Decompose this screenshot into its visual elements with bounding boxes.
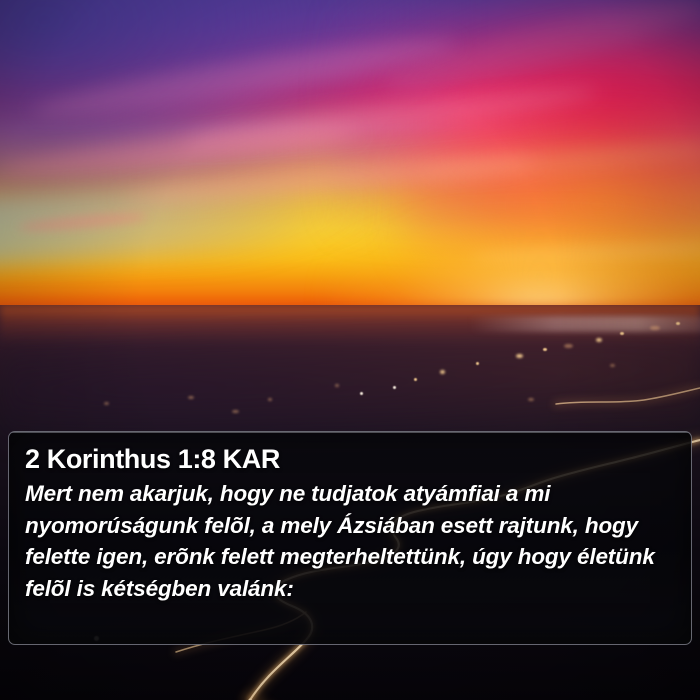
ground-light bbox=[414, 378, 417, 381]
ground-light bbox=[543, 348, 547, 351]
ground-light bbox=[676, 322, 680, 325]
ground-light bbox=[516, 354, 523, 358]
ground-light bbox=[650, 326, 660, 330]
verse-body-text: Mert nem akarjuk, hogy ne tudjatok atyám… bbox=[25, 478, 675, 604]
ground-light bbox=[476, 362, 479, 365]
ground-light bbox=[528, 398, 534, 401]
ground-light bbox=[610, 364, 615, 367]
ground-light bbox=[360, 392, 363, 395]
ground-light bbox=[440, 370, 445, 374]
ground-light bbox=[564, 344, 573, 348]
verse-reference: 2 Korinthus 1:8 KAR bbox=[25, 442, 675, 476]
ground-light bbox=[596, 338, 602, 342]
ground-light bbox=[232, 410, 239, 413]
ground-light bbox=[335, 384, 339, 387]
ground-light bbox=[620, 332, 624, 335]
ground-light bbox=[268, 398, 272, 401]
verse-image-card: 2 Korinthus 1:8 KAR Mert nem akarjuk, ho… bbox=[0, 0, 700, 700]
verse-overlay-panel: 2 Korinthus 1:8 KAR Mert nem akarjuk, ho… bbox=[8, 431, 692, 645]
ground-light bbox=[188, 396, 194, 399]
ground-light bbox=[104, 402, 109, 405]
ground-light bbox=[393, 386, 396, 389]
